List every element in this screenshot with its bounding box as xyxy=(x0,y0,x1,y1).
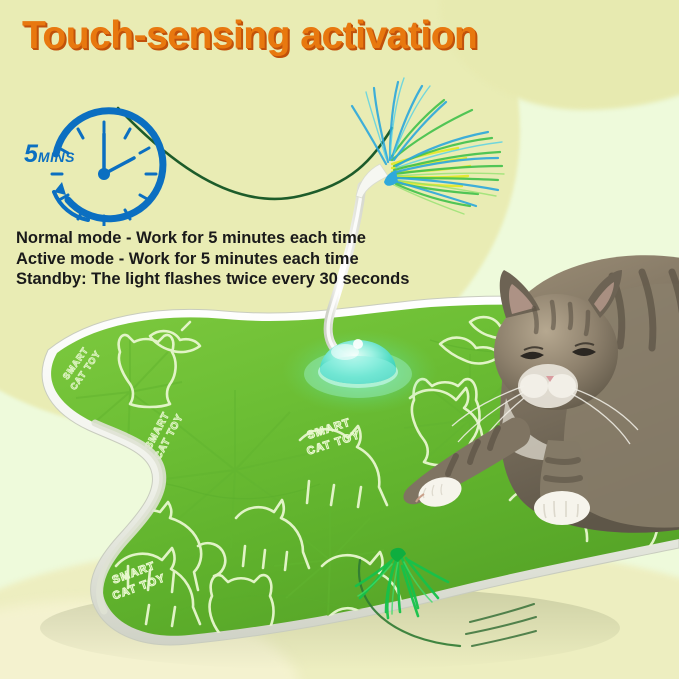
blue-green-yellow-feather xyxy=(352,78,504,214)
mode-description-list: Normal mode - Work for 5 minutes each ti… xyxy=(16,228,486,290)
mode-line-active: Active mode - Work for 5 minutes each ti… xyxy=(16,249,486,270)
clock-duration-value: 5 xyxy=(24,140,38,168)
product-image-canvas: SMART CAT TOY SMART CAT TOY SMART CAT TO… xyxy=(0,0,679,679)
mode-line-standby: Standby: The light flashes twice every 3… xyxy=(16,269,486,290)
wand-tip xyxy=(356,164,388,198)
clock-duration-label: 5MINS xyxy=(24,140,75,169)
clock-badge: 5MINS xyxy=(18,96,188,226)
mode-line-normal: Normal mode - Work for 5 minutes each ti… xyxy=(16,228,486,249)
clock-duration-unit: MINS xyxy=(38,149,75,165)
page-title: Touch-sensing activation xyxy=(22,14,477,58)
